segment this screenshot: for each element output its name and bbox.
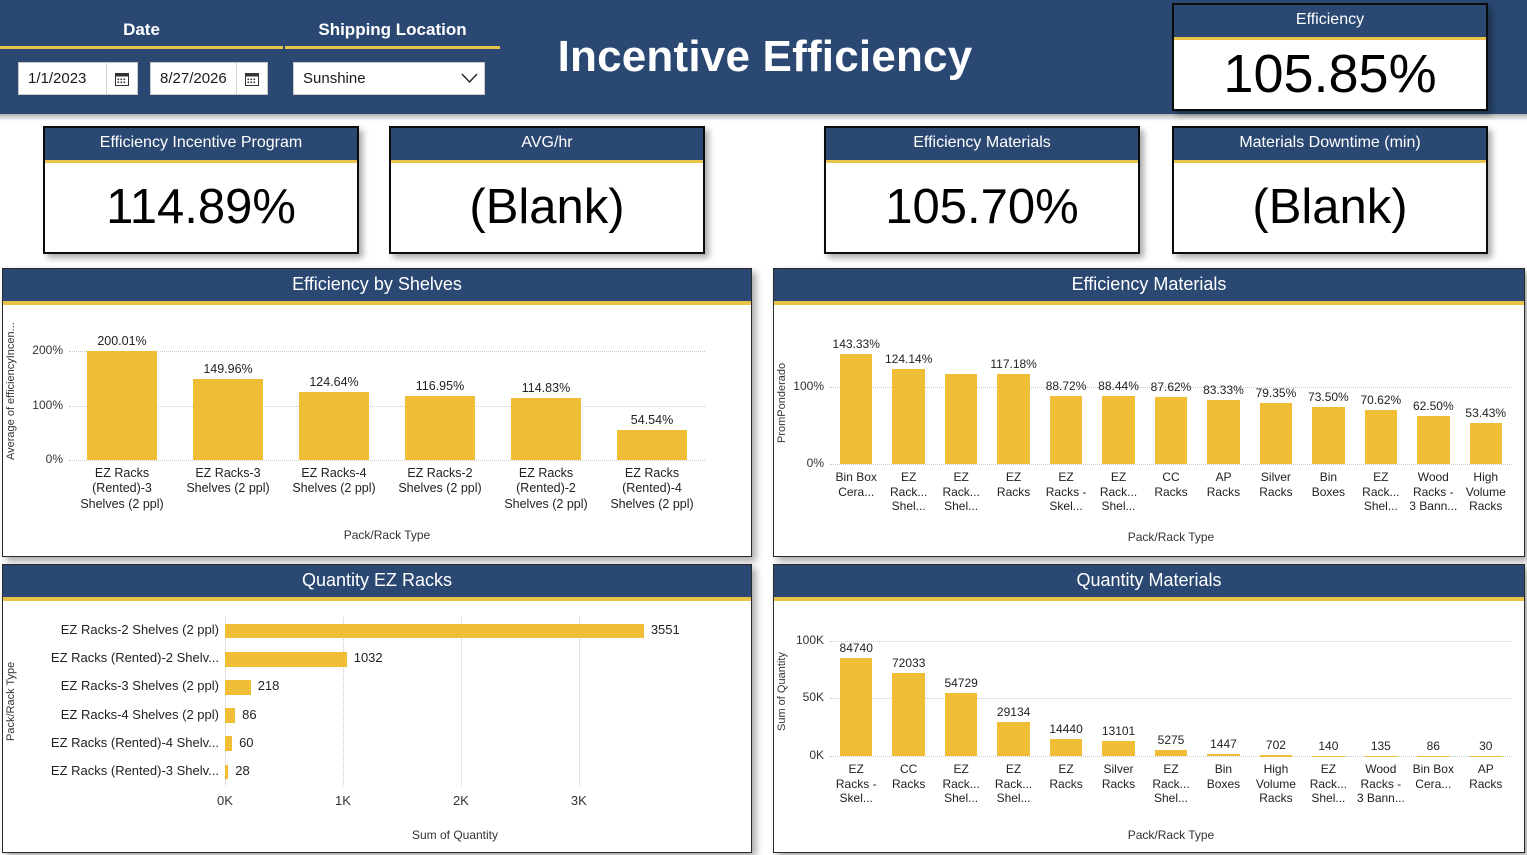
bar[interactable] <box>225 624 644 639</box>
page-title: Incentive Efficiency <box>520 22 1010 92</box>
data-label: 124.64% <box>297 375 371 389</box>
bar[interactable] <box>1207 400 1240 464</box>
date-slicer-underline <box>0 46 283 49</box>
y-axis-category: EZ Racks-4 Shelves (2 ppl) <box>7 707 219 722</box>
x-axis-category: EZ Racks - Skel... <box>831 762 881 806</box>
kpi-value: (Blank) <box>1174 163 1486 252</box>
data-label: 1032 <box>354 650 383 665</box>
bar[interactable] <box>1365 410 1398 464</box>
data-label: 124.14% <box>872 352 946 366</box>
bar[interactable] <box>1155 750 1188 756</box>
y-axis-tick: 0% <box>788 456 824 470</box>
location-slicer-underline <box>285 46 500 49</box>
x-axis-tick: 0K <box>199 793 251 808</box>
bar[interactable] <box>1312 756 1345 758</box>
y-axis-tick: 200% <box>21 343 63 357</box>
x-axis-category: EZ Racks <box>988 470 1038 499</box>
chevron-down-icon[interactable] <box>454 73 484 84</box>
x-axis-category: EZ Racks - Skel... <box>1041 470 1091 514</box>
panel-title: Efficiency Materials <box>774 269 1524 305</box>
kpi-title: AVG/hr <box>391 128 703 163</box>
data-label: 116.95% <box>403 379 477 393</box>
data-label: 143.33% <box>819 337 893 351</box>
x-axis-category: EZ Racks-2 Shelves (2 ppl) <box>388 466 492 497</box>
x-axis-category: Silver Racks <box>1251 470 1301 499</box>
x-axis-category: EZ Rack... Shel... <box>936 762 986 806</box>
chart-efficiency-by-shelves[interactable]: Average of efficiencyIncen...0%100%200%2… <box>3 305 751 556</box>
kpi-title: Efficiency Incentive Program <box>45 128 357 163</box>
data-label: 54729 <box>924 676 998 690</box>
bar[interactable] <box>225 708 235 723</box>
kpi-value: (Blank) <box>391 163 703 252</box>
gridline <box>343 617 344 786</box>
x-axis-category: Bin Boxes <box>1198 762 1248 791</box>
bar[interactable] <box>892 673 925 756</box>
bar[interactable] <box>87 351 157 460</box>
data-label: 200.01% <box>85 334 159 348</box>
bar[interactable] <box>1365 756 1398 758</box>
location-slicer-label: Shipping Location <box>285 20 500 40</box>
kpi-title: Efficiency Materials <box>826 128 1138 163</box>
gridline <box>830 698 1512 699</box>
chart-efficiency-materials[interactable]: PromPonderado0%100%143.33%Bin Box Cera..… <box>774 305 1524 556</box>
panel-efficiency-materials[interactable]: Efficiency Materials PromPonderado0%100%… <box>773 268 1525 557</box>
x-axis-category: High Volume Racks <box>1461 470 1511 514</box>
kpi-card-avg-hr[interactable]: AVG/hr (Blank) <box>389 126 705 254</box>
data-label: 30 <box>1449 739 1523 753</box>
bar[interactable] <box>405 396 475 460</box>
date-slicer-label: Date <box>0 20 283 40</box>
x-axis-title: Pack/Rack Type <box>830 828 1512 842</box>
y-axis-title: Pack/Rack Type <box>5 617 17 786</box>
date-start-input[interactable]: 1/1/2023 <box>18 62 138 95</box>
x-axis-category: CC Racks <box>883 762 933 791</box>
panel-title: Quantity Materials <box>774 565 1524 601</box>
kpi-title: Materials Downtime (min) <box>1174 128 1486 163</box>
data-label: 218 <box>258 678 280 693</box>
bar[interactable] <box>1470 423 1503 464</box>
x-axis-category: EZ Rack... Shel... <box>883 470 933 514</box>
bar[interactable] <box>1260 403 1293 464</box>
bar[interactable] <box>1050 739 1083 756</box>
panel-quantity-materials[interactable]: Quantity Materials Sum of Quantity0K50K1… <box>773 564 1525 853</box>
shipping-location-value: Sunshine <box>294 70 454 87</box>
x-axis-category: EZ Rack... Shel... <box>988 762 1038 806</box>
gridline <box>461 617 462 786</box>
x-axis-category: EZ Racks-3 Shelves (2 ppl) <box>176 466 280 497</box>
kpi-value: 114.89% <box>45 163 357 252</box>
data-label: 86 <box>242 707 256 722</box>
kpi-card-efficiency[interactable]: Efficiency 105.85% <box>1172 3 1488 111</box>
bar[interactable] <box>1207 754 1240 756</box>
y-axis-title: PromPonderado <box>776 341 788 464</box>
x-axis-tick: 3K <box>553 793 605 808</box>
gridline <box>830 756 1512 757</box>
chart-quantity-materials[interactable]: Sum of Quantity0K50K100K84740EZ Racks - … <box>774 601 1524 852</box>
kpi-value: 105.70% <box>826 163 1138 252</box>
x-axis-category: EZ Racks <box>1041 762 1091 791</box>
x-axis-tick: 1K <box>317 793 369 808</box>
x-axis-category: Wood Racks - 3 Bann... <box>1408 470 1458 514</box>
x-axis-category: EZ Rack... Shel... <box>1146 762 1196 806</box>
x-axis-title: Pack/Rack Type <box>69 528 705 542</box>
bar[interactable] <box>193 379 263 461</box>
x-axis-category: High Volume Racks <box>1251 762 1301 806</box>
date-end-value: 8/27/2026 <box>151 70 236 87</box>
bar[interactable] <box>892 369 925 464</box>
data-label: 28 <box>235 763 249 778</box>
bar[interactable] <box>1417 756 1450 758</box>
x-axis-category: AP Racks <box>1461 762 1511 791</box>
bar[interactable] <box>299 392 369 460</box>
x-axis-category: Bin Box Cera... <box>831 470 881 499</box>
header-shadow <box>0 114 1527 121</box>
date-start-value: 1/1/2023 <box>19 70 106 87</box>
x-axis-category: AP Racks <box>1198 470 1248 499</box>
gridline <box>579 617 580 786</box>
x-axis-tick: 2K <box>435 793 487 808</box>
bar[interactable] <box>840 354 873 464</box>
bar[interactable] <box>511 398 581 460</box>
x-axis-title: Sum of Quantity <box>225 828 685 842</box>
bar[interactable] <box>1470 756 1503 758</box>
data-label: 114.83% <box>509 381 583 395</box>
data-label: 53.43% <box>1449 406 1523 420</box>
bar[interactable] <box>945 374 978 464</box>
panel-title: Efficiency by Shelves <box>3 269 751 305</box>
dashboard-root: Date Shipping Location 1/1/2023 8/27/202… <box>0 0 1527 855</box>
bar[interactable] <box>997 722 1030 756</box>
y-axis-category: EZ Racks (Rented)-4 Shelv... <box>7 735 219 750</box>
x-axis-category: Bin Box Cera... <box>1408 762 1458 791</box>
chart-quantity-ez-racks[interactable]: Pack/Rack Type0K1K2K3KEZ Racks-2 Shelves… <box>3 601 751 852</box>
x-axis-category: EZ Rack... Shel... <box>1303 762 1353 806</box>
y-axis-tick: 0% <box>21 452 63 466</box>
x-axis-category: EZ Racks (Rented)-2 Shelves (2 ppl) <box>494 466 598 512</box>
bar[interactable] <box>1155 397 1188 464</box>
x-axis-category: EZ Rack... Shel... <box>1093 470 1143 514</box>
y-axis-title: Average of efficiencyIncen... <box>5 335 17 460</box>
bar[interactable] <box>617 430 687 460</box>
gridline <box>69 406 705 407</box>
data-label: 3551 <box>651 622 680 637</box>
data-label: 84740 <box>819 641 893 655</box>
calendar-icon[interactable] <box>107 63 137 94</box>
y-axis-tick: 100% <box>21 398 63 412</box>
data-label: 29134 <box>977 705 1051 719</box>
x-axis-category: EZ Racks-4 Shelves (2 ppl) <box>282 466 386 497</box>
x-axis-category: EZ Racks (Rented)-3 Shelves (2 ppl) <box>70 466 174 512</box>
y-axis-tick: 50K <box>786 690 824 704</box>
data-label: 72033 <box>872 656 946 670</box>
data-label: 117.18% <box>977 357 1051 371</box>
bar[interactable] <box>840 658 873 756</box>
y-axis-category: EZ Racks-3 Shelves (2 ppl) <box>7 678 219 693</box>
panel-efficiency-by-shelves[interactable]: Efficiency by Shelves Average of efficie… <box>2 268 752 557</box>
x-axis-category: EZ Rack... Shel... <box>936 470 986 514</box>
gridline <box>830 641 1512 642</box>
data-label: 54.54% <box>615 413 689 427</box>
y-axis-tick: 0K <box>786 748 824 762</box>
y-axis-category: EZ Racks-2 Shelves (2 ppl) <box>7 622 219 637</box>
gridline <box>225 617 226 786</box>
shipping-location-dropdown[interactable]: Sunshine <box>293 62 485 95</box>
bar[interactable] <box>225 652 347 667</box>
panel-quantity-ez-racks[interactable]: Quantity EZ Racks Pack/Rack Type0K1K2K3K… <box>2 564 752 853</box>
bar[interactable] <box>225 736 232 751</box>
bar[interactable] <box>1417 416 1450 464</box>
bar[interactable] <box>1050 396 1083 464</box>
gridline <box>69 351 705 352</box>
gridline <box>69 460 705 461</box>
kpi-card-efficiency-materials[interactable]: Efficiency Materials 105.70% <box>824 126 1140 254</box>
y-axis-tick: 100% <box>788 379 824 393</box>
y-axis-category: EZ Racks (Rented)-2 Shelv... <box>7 650 219 665</box>
x-axis-category: Bin Boxes <box>1303 470 1353 499</box>
bar[interactable] <box>945 693 978 756</box>
bar[interactable] <box>997 374 1030 464</box>
bar[interactable] <box>225 680 251 695</box>
calendar-icon[interactable] <box>237 63 267 94</box>
x-axis-category: Wood Racks - 3 Bann... <box>1356 762 1406 806</box>
bar[interactable] <box>225 765 228 780</box>
x-axis-category: Silver Racks <box>1093 762 1143 791</box>
kpi-card-materials-downtime[interactable]: Materials Downtime (min) (Blank) <box>1172 126 1488 254</box>
x-axis-title: Pack/Rack Type <box>830 530 1512 544</box>
gridline <box>830 464 1512 465</box>
kpi-value: 105.85% <box>1174 40 1486 109</box>
data-label: 60 <box>239 735 253 750</box>
bar[interactable] <box>1260 755 1293 757</box>
x-axis-category: EZ Racks (Rented)-4 Shelves (2 ppl) <box>600 466 704 512</box>
y-axis-category: EZ Racks (Rented)-3 Shelv... <box>7 763 219 778</box>
bar[interactable] <box>1102 396 1135 464</box>
panel-title: Quantity EZ Racks <box>3 565 751 601</box>
data-label: 149.96% <box>191 362 265 376</box>
bar[interactable] <box>1312 407 1345 464</box>
x-axis-category: CC Racks <box>1146 470 1196 499</box>
bar[interactable] <box>1102 741 1135 756</box>
x-axis-category: EZ Rack... Shel... <box>1356 470 1406 514</box>
kpi-title: Efficiency <box>1174 5 1486 40</box>
date-end-input[interactable]: 8/27/2026 <box>150 62 268 95</box>
kpi-card-efficiency-incentive-program[interactable]: Efficiency Incentive Program 114.89% <box>43 126 359 254</box>
